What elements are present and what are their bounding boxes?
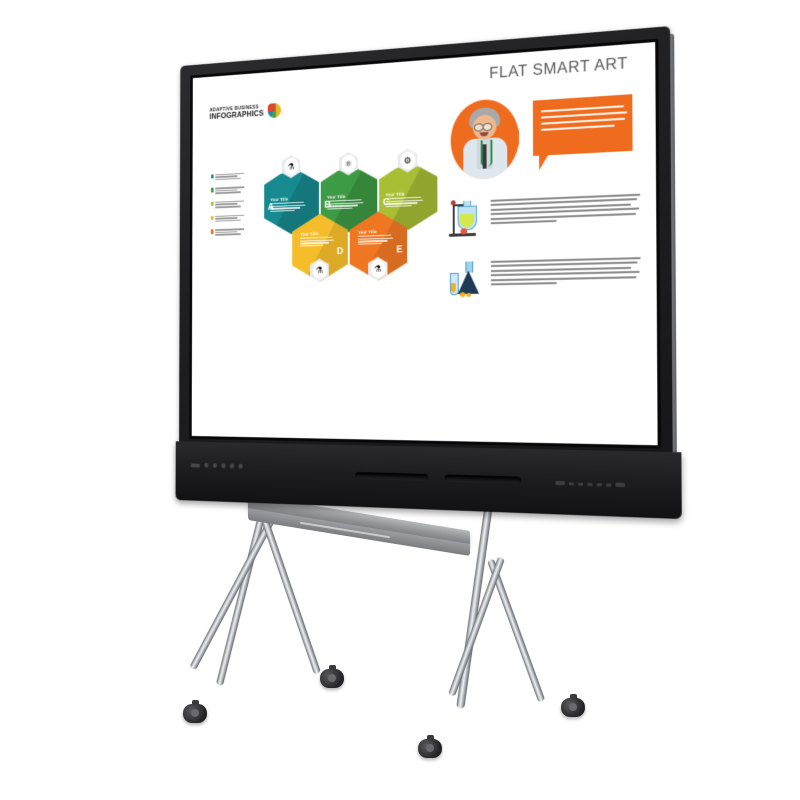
hexagon-body (358, 235, 393, 245)
screenshot-root: FLAT SMART ART ADAPTIVE BUSINESS INFOGRA… (0, 0, 800, 800)
microscope-icon: ⚗ (284, 157, 298, 176)
hexagon-diagram: A Your Title ⚗ (264, 147, 438, 291)
bullet-text (215, 186, 244, 194)
bullet-marker (211, 230, 213, 234)
hexagon-title: Your Title (270, 197, 288, 203)
audio-port[interactable] (597, 483, 602, 486)
speech-bubble-tail (539, 155, 548, 170)
bullet-list (211, 171, 256, 243)
bullet-marker (211, 216, 213, 220)
display-chin-bar (176, 441, 682, 519)
usb-port[interactable] (587, 482, 592, 485)
display-bezel: FLAT SMART ART ADAPTIVE BUSINESS INFOGRA… (179, 26, 673, 456)
power-button[interactable] (191, 463, 200, 467)
hexagon-body (270, 202, 305, 212)
display-screen[interactable]: FLAT SMART ART ADAPTIVE BUSINESS INFOGRA… (192, 42, 658, 445)
info-paragraph-2 (449, 254, 641, 299)
hexagon-letter: E (396, 244, 402, 255)
menu-button[interactable] (204, 463, 208, 468)
info-paragraph-1 (449, 191, 641, 239)
hexagon-title: Your Title (386, 191, 405, 197)
speaker-grille-right (445, 475, 522, 484)
source-button[interactable] (230, 464, 234, 469)
volume-down-button[interactable] (213, 463, 217, 468)
hexagon-body (327, 199, 363, 209)
bullet-text (215, 172, 244, 180)
bullet-marker (211, 188, 213, 192)
list-item (211, 199, 256, 208)
hexagon-title: Your Title (300, 231, 318, 236)
hexagon-title: Your Title (327, 194, 345, 200)
lan-port[interactable] (606, 483, 611, 486)
molecule-icon: ⚛ (341, 154, 356, 173)
logo-line-2: INFOGRAPHICS (210, 110, 264, 121)
list-item (211, 228, 256, 236)
flask-icon: ⚗ (370, 259, 385, 278)
paragraph-text (491, 191, 641, 225)
bullet-marker (211, 202, 213, 206)
home-button[interactable] (238, 464, 242, 469)
logo-mark-icon (268, 103, 281, 118)
bullet-text (215, 214, 244, 222)
usb-port[interactable] (578, 482, 583, 485)
list-item (211, 185, 256, 194)
burner-icon: ⚙ (400, 151, 415, 170)
speaker-grille-left (355, 472, 428, 481)
volume-up-button[interactable] (221, 463, 225, 468)
list-item (211, 213, 256, 222)
hexagon-body (386, 197, 424, 208)
hexagon-body (300, 237, 334, 247)
hdmi-port[interactable] (556, 481, 565, 485)
hexagon-title: Your Title (358, 229, 377, 235)
presentation-slide: FLAT SMART ART ADAPTIVE BUSINESS INFOGRA… (192, 42, 658, 445)
bullet-marker (211, 174, 213, 178)
flask-stand-icon (449, 197, 482, 239)
flat-panel-display: FLAT SMART ART ADAPTIVE BUSINESS INFOGRA… (179, 26, 673, 516)
bezel-inner: FLAT SMART ART ADAPTIVE BUSINESS INFOGRA… (189, 39, 661, 449)
list-item (211, 171, 256, 180)
io-port-row[interactable] (556, 481, 625, 487)
bullet-text (215, 200, 244, 208)
bullet-text (215, 228, 244, 236)
usb-port[interactable] (569, 482, 574, 485)
beaker-icon (449, 258, 482, 299)
vga-port[interactable] (615, 483, 624, 488)
slide-title: FLAT SMART ART (489, 55, 628, 84)
test-tubes-icon: ⚗ (312, 261, 326, 279)
logo-text: ADAPTIVE BUSINESS INFOGRAPHICS (210, 105, 264, 121)
speech-bubble-text (541, 105, 627, 131)
paragraph-text (491, 254, 641, 286)
hexagon-letter: D (337, 246, 344, 257)
slide-logo: ADAPTIVE BUSINESS INFOGRAPHICS (210, 103, 282, 122)
speech-bubble (533, 94, 633, 156)
display-control-buttons[interactable] (191, 462, 243, 468)
display-scene: FLAT SMART ART ADAPTIVE BUSINESS INFOGRA… (0, 0, 800, 800)
scientist-avatar (451, 98, 520, 181)
